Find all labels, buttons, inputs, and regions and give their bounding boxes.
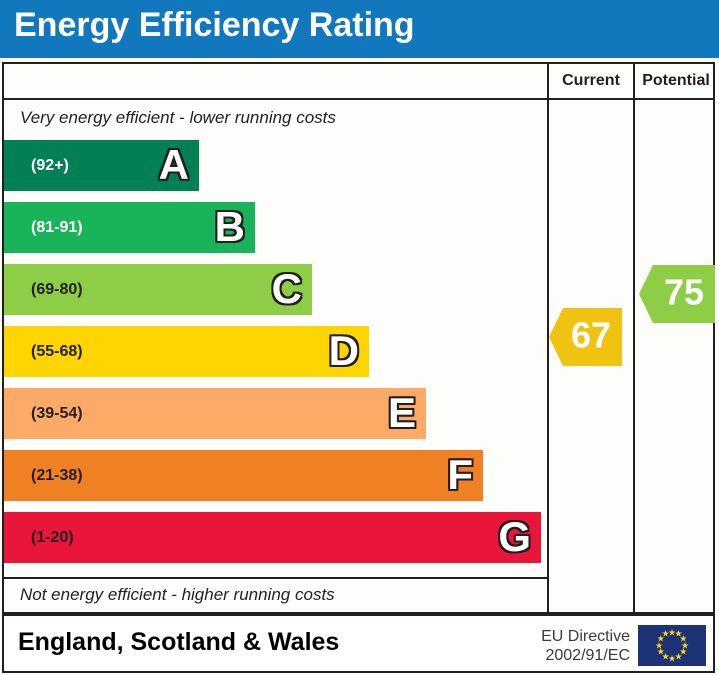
chart-body: Current Potential Very energy efficient …: [2, 62, 715, 614]
footer-region-label: England, Scotland & Wales: [18, 628, 339, 657]
band-letter-b: B: [215, 206, 245, 248]
band-letter-f: F: [447, 454, 473, 496]
rating-band-e: (39-54)E: [4, 388, 426, 439]
current-rating-marker: 67: [549, 308, 622, 366]
potential-rating-marker: 75: [639, 265, 715, 323]
rating-band-a: (92+)A: [4, 140, 199, 191]
band-range-d: (55-68): [31, 343, 83, 361]
band-range-g: (1-20): [31, 529, 74, 547]
energy-efficiency-rating-chart: Energy Efficiency Rating Current Potenti…: [0, 0, 719, 675]
chart-footer: England, Scotland & Wales EU Directive 2…: [2, 614, 715, 673]
eu-flag-icon: ★★★★★★★★★★★★: [638, 625, 706, 666]
chart-title-bar: Energy Efficiency Rating: [0, 0, 719, 58]
potential-rating-value: 75: [664, 275, 704, 311]
band-letter-e: E: [388, 392, 416, 434]
band-range-b: (81-91): [31, 219, 83, 237]
band-range-a: (92+): [31, 157, 69, 175]
rating-band-d: (55-68)D: [4, 326, 369, 377]
rating-bands: (92+)A(81-91)B(69-80)C(55-68)D(39-54)E(2…: [4, 64, 547, 612]
band-range-f: (21-38): [31, 467, 83, 485]
rating-band-c: (69-80)C: [4, 264, 312, 315]
eu-flag-star: ★: [661, 630, 669, 639]
band-range-e: (39-54): [31, 405, 83, 423]
potential-column-divider: [633, 64, 635, 612]
rating-band-b: (81-91)B: [4, 202, 255, 253]
column-header-current: Current: [549, 64, 633, 98]
band-letter-c: C: [272, 268, 302, 310]
band-letter-d: D: [329, 330, 359, 372]
band-letter-a: A: [159, 144, 189, 186]
page-title: Energy Efficiency Rating: [14, 6, 415, 45]
column-header-potential: Potential: [635, 64, 717, 98]
band-letter-g: G: [498, 516, 531, 558]
current-rating-value: 67: [571, 318, 611, 354]
current-column-divider: [547, 64, 549, 612]
rating-band-g: (1-20)G: [4, 512, 541, 563]
eu-directive-text: EU Directive 2002/91/EC: [520, 627, 630, 665]
eu-directive-line2: 2002/91/EC: [520, 646, 630, 665]
eu-directive-line1: EU Directive: [520, 627, 630, 646]
rating-band-f: (21-38)F: [4, 450, 483, 501]
band-range-c: (69-80): [31, 281, 83, 299]
